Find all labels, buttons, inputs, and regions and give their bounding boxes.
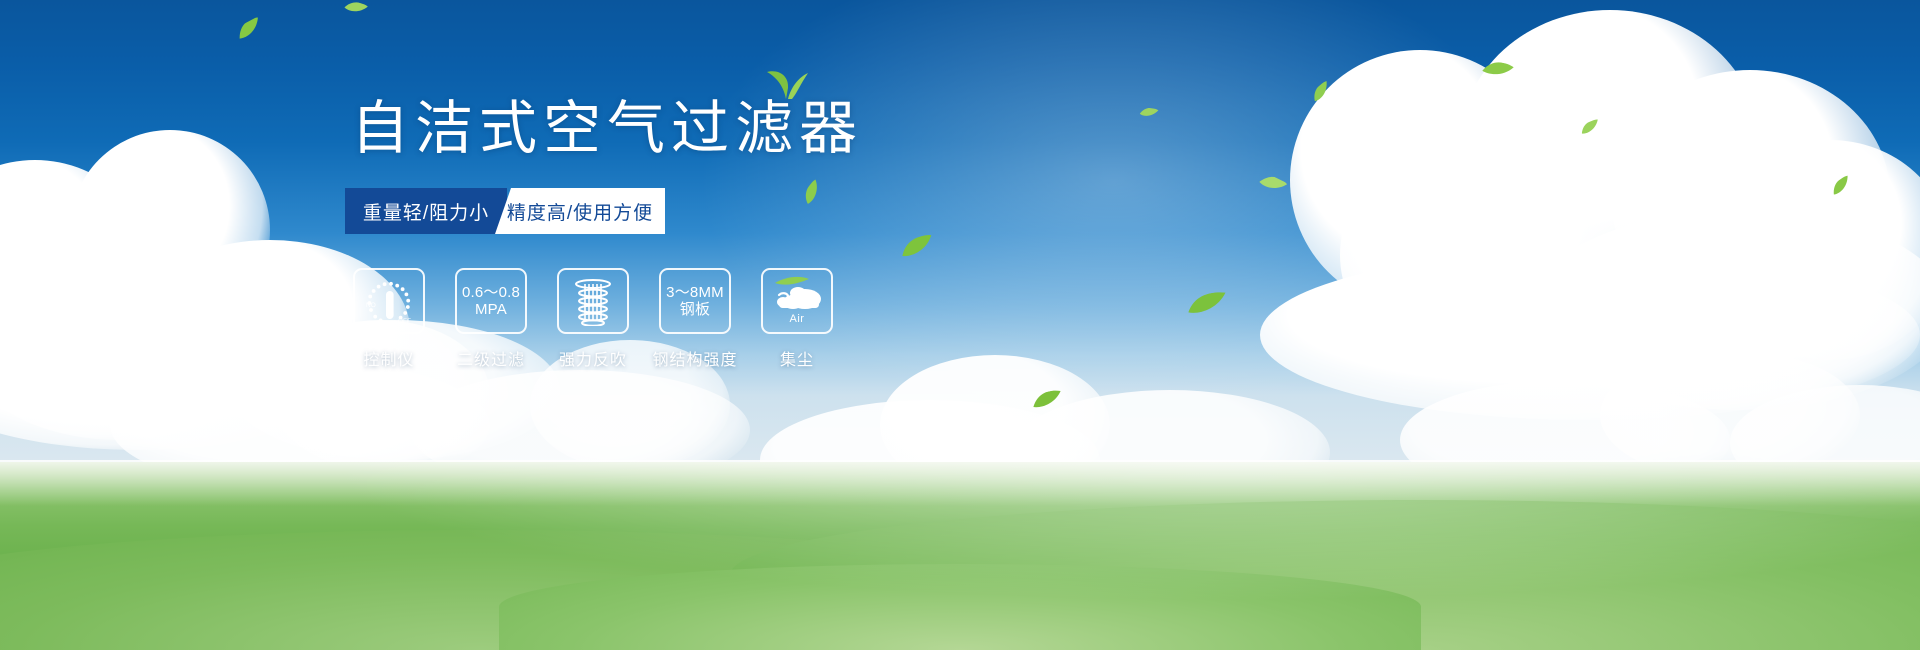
steel-plate-text-icon: 3～8MM 钢板 (666, 284, 724, 318)
air-label: Air (763, 313, 831, 325)
feature-label: 控制仪 (363, 346, 414, 370)
product-hero-banner: 自洁式空气过滤器 重量轻/阻力小 精度高/使用方便 (0, 0, 1920, 650)
feature-item-dust-collection[interactable]: Air 集尘 (761, 268, 833, 370)
feature-item-controller[interactable]: NO OFF 控制仪 (353, 268, 425, 370)
tab-high-precision-easy-use[interactable]: 精度高/使用方便 (495, 188, 665, 234)
feature-label: 集尘 (780, 346, 814, 370)
banner-content: 自洁式空气过滤器 重量轻/阻力小 精度高/使用方便 (345, 100, 1165, 370)
page-title: 自洁式空气过滤器 (351, 100, 863, 166)
steel-thickness: 3～8MM (666, 284, 724, 301)
feature-item-secondary-filtration[interactable]: 0.6～0.8 MPA 二级过滤 (455, 268, 527, 370)
svg-text:NO: NO (366, 302, 376, 309)
title-leaf-icon (765, 66, 809, 105)
feature-item-steel-strength[interactable]: 3～8MM 钢板 钢结构强度 (659, 268, 731, 370)
filter-cartridge-icon (570, 276, 616, 326)
feature-icon-list: NO OFF 控制仪 0.6～0.8 MPA 二级过滤 (353, 268, 1165, 370)
title-wrapper: 自洁式空气过滤器 (345, 100, 863, 166)
tab-lightweight-low-resistance[interactable]: 重量轻/阻力小 (345, 188, 507, 234)
feature-item-strong-backflush[interactable]: 强力反吹 (557, 268, 629, 370)
gauge-dial-icon: NO OFF (362, 276, 416, 326)
feature-icon-box (557, 268, 629, 334)
tab-label: 精度高/使用方便 (507, 198, 653, 225)
feature-icon-box: 0.6～0.8 MPA (455, 268, 527, 334)
pressure-text-icon: 0.6～0.8 MPA (462, 284, 520, 318)
feature-icon-box: 3～8MM 钢板 (659, 268, 731, 334)
steel-material: 钢板 (666, 301, 724, 318)
pressure-range: 0.6～0.8 (462, 284, 520, 301)
feature-icon-box: NO OFF (353, 268, 425, 334)
feature-label: 钢结构强度 (653, 346, 738, 370)
pressure-unit: MPA (462, 301, 520, 318)
feature-tabs: 重量轻/阻力小 精度高/使用方便 (345, 188, 667, 234)
grass-highlight (0, 462, 1920, 650)
feature-label: 二级过滤 (457, 346, 525, 370)
svg-text:OFF: OFF (398, 318, 411, 325)
feature-icon-box: Air (761, 268, 833, 334)
tab-label: 重量轻/阻力小 (363, 198, 489, 225)
feature-label: 强力反吹 (559, 346, 627, 370)
grass-field (0, 462, 1920, 650)
